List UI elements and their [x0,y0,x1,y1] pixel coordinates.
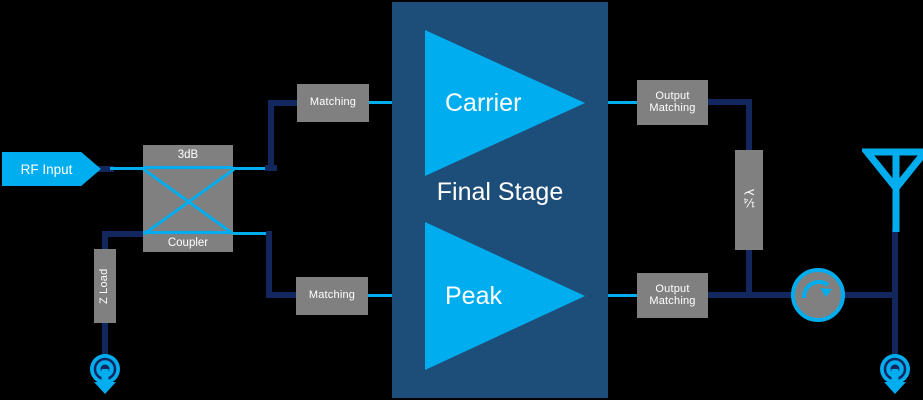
diagram-canvas: RF Input 3dB Coupler Z Load Matching Mat… [0,0,923,400]
carrier-amplifier-label: Carrier [445,89,521,118]
circulator-arrow-head [820,288,832,297]
matching-carrier-label: Matching [310,97,356,109]
quarter-wave-label: ¼λ [742,189,757,211]
wire-bottom-to-matching [266,292,300,298]
peak-amplifier-label: Peak [445,282,502,311]
wire-coupler-top-vert [268,100,274,170]
wire-circulator-to-antenna [843,292,898,298]
ground-icon-left [83,352,127,398]
output-matching-carrier-line2: Matching [649,103,695,115]
rf-input-text: RF Input [21,162,73,177]
output-matching-carrier-block: Output Matching [637,80,708,125]
coupler-through-line-top [143,166,233,169]
z-load-label: Z Load [99,268,111,303]
final-stage-panel: Carrier Final Stage Peak [392,2,608,398]
output-matching-peak-line2: Matching [649,296,695,308]
wire-outmatch-peak-to-circulator [706,292,794,298]
antenna-icon [862,146,923,232]
carrier-amplifier-triangle: Carrier [425,30,585,176]
output-matching-peak-block: Output Matching [637,273,708,318]
wire-top-to-matching [268,100,300,106]
rf-input-label: RF Input [2,152,101,186]
quarter-wave-transformer-block: ¼λ [735,150,763,250]
coupler-bottom-label: Coupler [143,237,233,249]
coupler-block: 3dB Coupler [143,145,233,252]
output-matching-peak-line1: Output [655,284,689,296]
ground-icon-right [873,352,917,398]
wire-coupler-out-bottom-cyan [231,232,271,235]
matching-carrier-block: Matching [297,84,369,122]
wire-iso-horiz [102,231,144,237]
wire-coupler-bottom-vert [266,231,272,295]
antenna-mast [893,152,900,232]
matching-peak-block: Matching [296,277,368,315]
z-load-block: Z Load [94,249,116,323]
ground-arrow [884,382,906,394]
coupler-top-label: 3dB [143,149,233,161]
coupler-through-line-bottom [143,231,233,234]
ground-arrow [94,382,116,394]
matching-peak-label: Matching [309,290,355,302]
circulator-icon [791,268,845,322]
wire-lambda-bottom [746,247,752,295]
final-stage-title: Final Stage [392,178,608,207]
wire-antenna-vert [892,228,898,358]
output-matching-carrier-line1: Output [655,91,689,103]
peak-amplifier-triangle: Peak [425,222,585,370]
wire-outmatch-carrier-vert [746,99,752,153]
